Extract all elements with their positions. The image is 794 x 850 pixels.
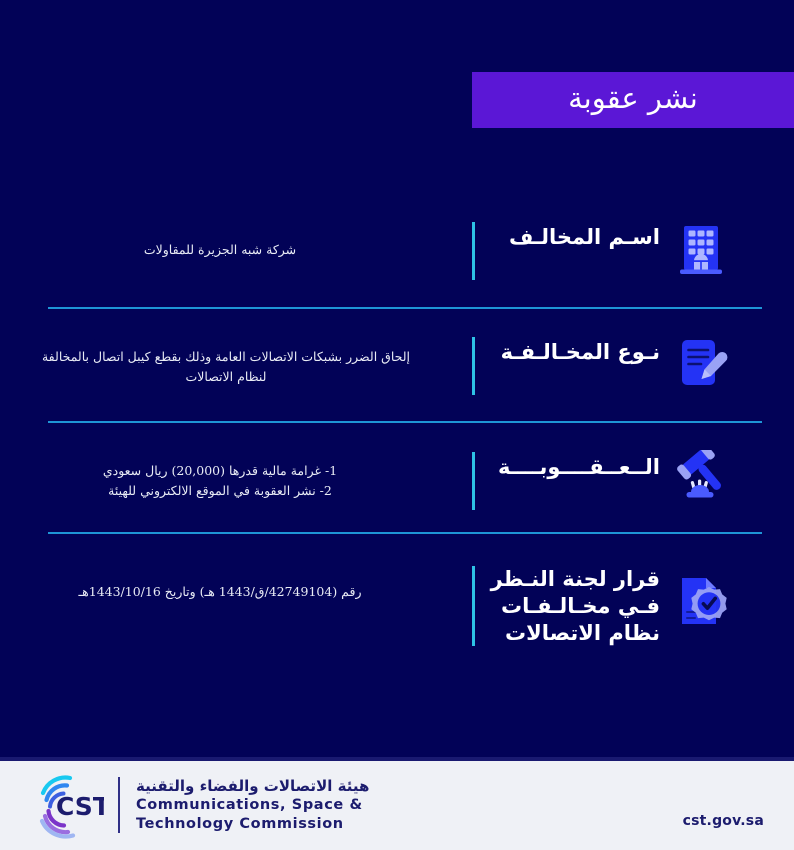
building-icon (674, 220, 732, 278)
row-separator-1 (48, 307, 762, 309)
row-label-violation-type: نـوع المخـالـفـة (472, 333, 674, 366)
row-value-violation-type: إلحاق الضرر بشبكات الاتصالات العامة وذلك… (8, 347, 444, 387)
row-accent-divider (472, 337, 475, 395)
document-check-icon (674, 572, 732, 630)
row-heading-committee-decision: قرار لجنة النـظر فـي مخـالـفـات نظام الا… (472, 560, 794, 660)
header-banner: نشر عقوبة (472, 72, 794, 128)
gavel-icon (674, 450, 732, 508)
row-label-committee-decision: قرار لجنة النـظر فـي مخـالـفـات نظام الا… (472, 560, 674, 647)
info-row-violator-name: اسـم المخالـف شركة شبه الجزيرة للمقاولات (0, 218, 794, 290)
footer-bar: CST هيئة الاتصالات والفضاء والتقنية Comm… (0, 757, 794, 850)
footer-website-url[interactable]: cst.gov.sa (683, 813, 764, 829)
page-title: نشر عقوبة (568, 84, 698, 116)
info-row-penalty: الــعــقــــوبــــة 1- غرامة مالية قدرها… (0, 448, 794, 520)
info-row-committee-decision: قرار لجنة النـظر فـي مخـالـفـات نظام الا… (0, 560, 794, 660)
footer-org-names: هيئة الاتصالات والفضاء والتقنية Communic… (136, 776, 369, 835)
row-value-violator-name: شركة شبه الجزيرة للمقاولات (0, 240, 440, 260)
footer-vertical-divider (118, 777, 120, 833)
row-value-penalty: 1- غرامة مالية قدرها (20,000) ريال سعودي… (0, 461, 440, 501)
row-heading-violation-type: نـوع المخـالـفـة (472, 333, 794, 405)
footer-brand: CST هيئة الاتصالات والفضاء والتقنية Comm… (30, 771, 369, 839)
row-accent-divider (472, 452, 475, 510)
row-accent-divider (472, 222, 475, 280)
row-heading-violator-name: اسـم المخالـف (472, 218, 794, 290)
document-pencil-icon (674, 335, 732, 393)
cst-logo-icon: CST (30, 771, 104, 839)
row-accent-divider (472, 566, 475, 646)
footer-arabic-name: هيئة الاتصالات والفضاء والتقنية (136, 776, 369, 796)
info-row-violation-type: نـوع المخـالـفـة إلحاق الضرر بشبكات الات… (0, 333, 794, 405)
row-heading-penalty: الــعــقــــوبــــة (472, 448, 794, 520)
cst-logo-wordmark: CST (56, 792, 104, 821)
penalty-publication-card: نشر عقوبة (0, 0, 794, 850)
row-value-committee-decision: رقم (42749104/ق/1443 هـ) وتاريخ 1443/10/… (0, 582, 440, 602)
footer-english-line-1: Communications, Space & (136, 796, 369, 815)
row-separator-3 (48, 532, 762, 534)
footer-english-line-2: Technology Commission (136, 815, 369, 834)
row-separator-2 (48, 421, 762, 423)
row-label-violator-name: اسـم المخالـف (472, 218, 674, 251)
row-label-penalty: الــعــقــــوبــــة (472, 448, 674, 481)
